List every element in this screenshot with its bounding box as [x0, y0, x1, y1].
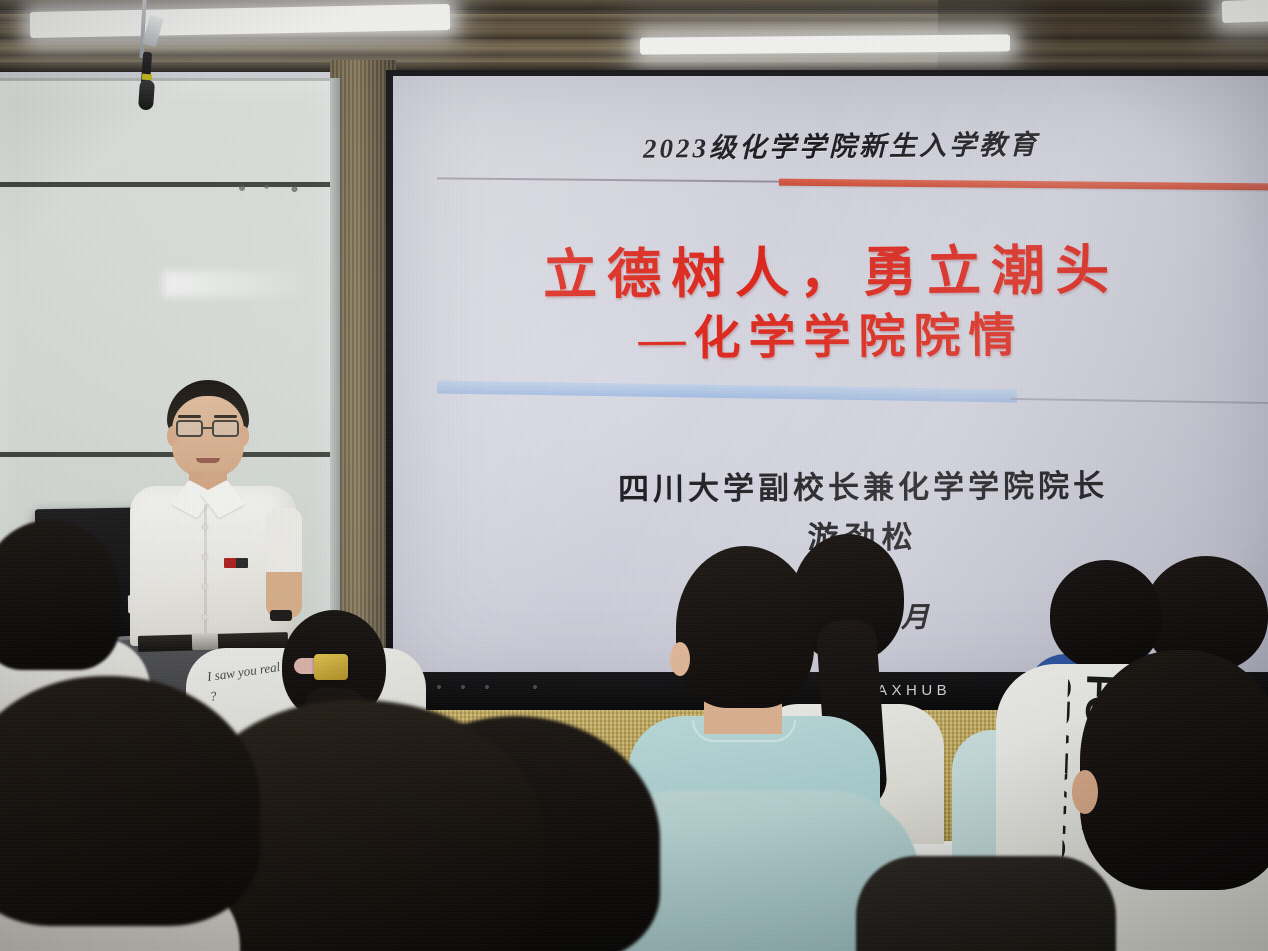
- audience-member-foreground: [856, 856, 1116, 951]
- presenter-ear: [238, 426, 249, 446]
- audience-head: [676, 546, 814, 708]
- eyeglasses-bridge: [203, 427, 212, 429]
- eyeglasses-icon: [212, 420, 239, 437]
- presenter-eyebrow: [214, 415, 237, 418]
- presenter-eyebrow: [178, 415, 201, 418]
- ceiling-light-icon: [1222, 0, 1268, 23]
- microphone-icon: [138, 80, 155, 111]
- eyeglasses-icon: [176, 420, 203, 437]
- slide-rule-blue-tail: [1011, 398, 1268, 404]
- audience-head: [0, 676, 260, 926]
- ceiling-wood-slats: [0, 0, 1268, 80]
- hair-clip-icon: [314, 654, 348, 680]
- classroom-photo: 2023级化学学院新生入学教育 立德树人，勇立潮头 —化学学院院情 四川大学副校…: [0, 0, 1268, 951]
- slide-rule-red: [779, 179, 1268, 191]
- slide-rule-blue: [437, 380, 1017, 402]
- slide-subtitle: —化学学院院情: [473, 295, 1190, 370]
- shirt-button: [202, 584, 208, 590]
- shirt-button: [202, 554, 208, 560]
- audience-shirt: [856, 856, 1116, 951]
- audience-head: [0, 520, 120, 670]
- slide-header: 2023级化学学院新生入学教育: [643, 121, 1163, 165]
- audience-ear: [670, 642, 690, 676]
- display-ports: [430, 684, 580, 690]
- audience-member: [648, 530, 880, 830]
- audience-member-foreground: [0, 676, 290, 951]
- audience-ear: [1072, 770, 1098, 814]
- whiteboard-frame: [330, 78, 340, 678]
- whiteboard-markers: [235, 182, 305, 194]
- shirt-button: [202, 524, 208, 530]
- audience-head: [1080, 650, 1268, 890]
- ceiling-light-icon: [640, 34, 1010, 54]
- shirt-logo-icon: [224, 558, 248, 568]
- presenter-arm: [266, 508, 302, 618]
- presenter-face: [172, 396, 244, 478]
- whiteboard-glare: [163, 271, 313, 297]
- slide-rule-thin: [437, 177, 781, 182]
- slide-author-role: 四川大学副校长兼化学学院院长: [513, 460, 1213, 510]
- presenter-mouth: [196, 458, 220, 463]
